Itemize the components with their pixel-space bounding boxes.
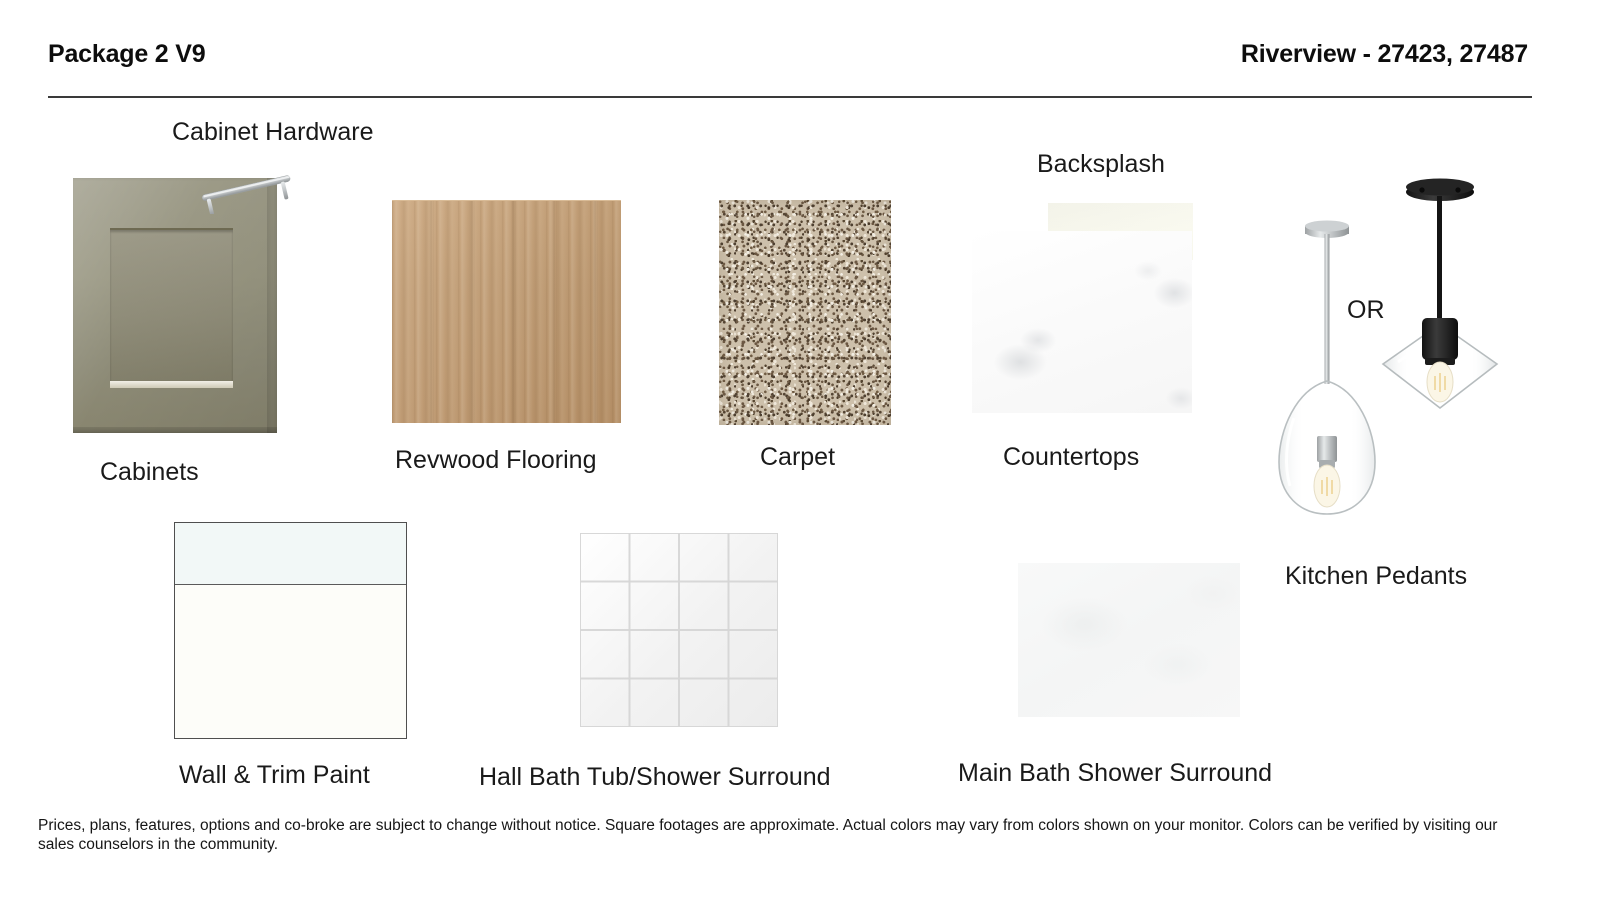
- countertops-label: Countertops: [1003, 443, 1139, 472]
- kitchen-pendants-label: Kitchen Pedants: [1285, 562, 1467, 591]
- main-bath-label: Main Bath Shower Surround: [958, 759, 1272, 788]
- backsplash-label: Backsplash: [1037, 150, 1165, 179]
- cabinet-door-swatch: [73, 178, 277, 433]
- cabinet-hardware-label: Cabinet Hardware: [172, 118, 374, 147]
- disclaimer-text: Prices, plans, features, options and co-…: [38, 816, 1516, 854]
- wall-trim-paint-label: Wall & Trim Paint: [179, 761, 370, 790]
- countertop-swatch: [972, 231, 1192, 413]
- main-bath-surround-swatch: [1018, 563, 1240, 717]
- hall-bath-label: Hall Bath Tub/Shower Surround: [479, 763, 831, 792]
- cabinet-right-edge: [267, 178, 277, 433]
- cabinet-bar-pull-icon: [198, 170, 296, 214]
- revwood-flooring-swatch: [392, 200, 621, 423]
- pendant-light-nickel-icon: [1272, 218, 1382, 518]
- cabinet-door-panel: [110, 228, 233, 385]
- page-title: Package 2 V9: [48, 40, 205, 69]
- pendant-light-black-icon: [1378, 176, 1503, 431]
- carpet-swatch: [719, 200, 891, 425]
- cabinet-bottom-edge: [73, 427, 277, 433]
- wall-trim-paint-swatch: [174, 522, 407, 739]
- header-divider: [48, 96, 1532, 98]
- carpet-label: Carpet: [760, 443, 835, 472]
- cabinets-label: Cabinets: [100, 458, 199, 487]
- cabinet-panel-bottom-edge: [110, 381, 233, 388]
- trim-paint-band: [175, 523, 406, 585]
- page-header: Package 2 V9 Riverview - 27423, 27487: [48, 40, 1528, 92]
- community-title: Riverview - 27423, 27487: [1241, 40, 1528, 69]
- hall-bath-tile-swatch: [580, 533, 778, 727]
- revwood-flooring-label: Revwood Flooring: [395, 446, 597, 475]
